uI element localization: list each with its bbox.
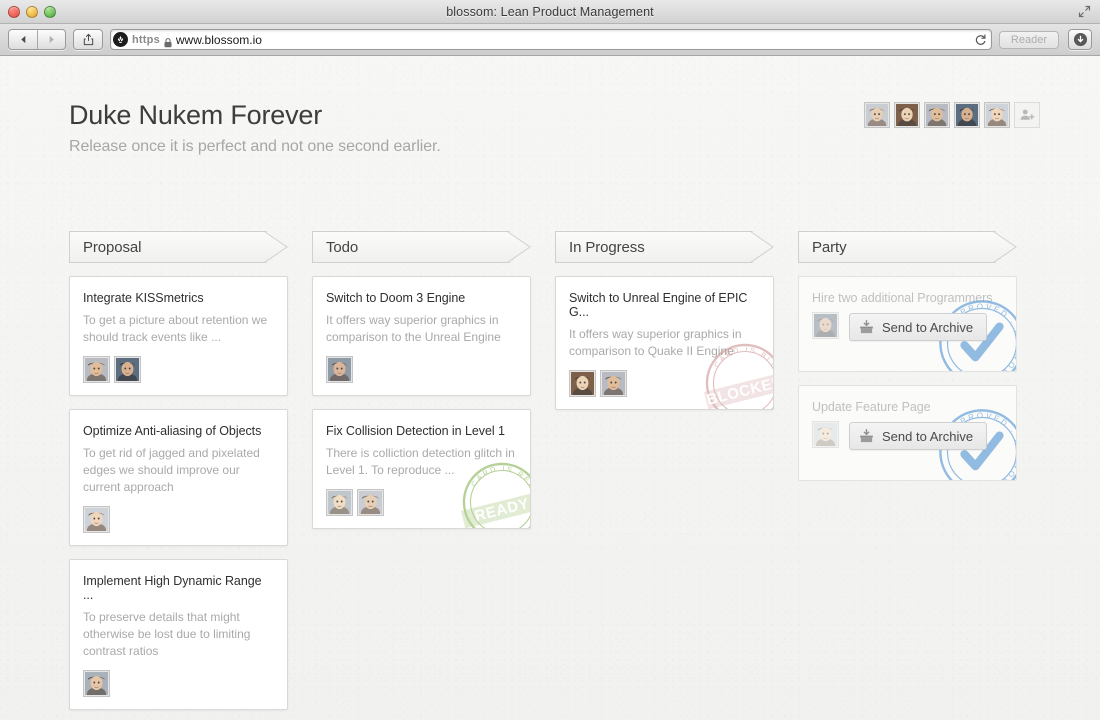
board-card[interactable]: Hire two additional ProgrammersSend to A…: [798, 276, 1017, 372]
zoom-window-button[interactable]: [44, 6, 56, 18]
card-assignee-avatar[interactable]: [326, 356, 353, 383]
card-description: To preserve details that might otherwise…: [83, 609, 274, 660]
chevron-right-icon: [993, 231, 1017, 263]
kanban-board: ProposalIntegrate KISSmetricsTo get a pi…: [69, 231, 1045, 720]
chevron-right-icon: [264, 231, 288, 263]
card-assignee-avatar[interactable]: [357, 489, 384, 516]
url-scheme-label: https: [132, 34, 160, 46]
card-title: Fix Collision Detection in Level 1: [326, 424, 517, 438]
board-card[interactable]: Fix Collision Detection in Level 1There …: [312, 409, 531, 529]
close-window-button[interactable]: [8, 6, 20, 18]
card-title: Update Feature Page: [812, 400, 1003, 414]
address-bar[interactable]: https www.blossom.io: [110, 29, 992, 50]
board-column: ProposalIntegrate KISSmetricsTo get a pi…: [69, 231, 288, 720]
board-card[interactable]: Implement High Dynamic Range ...To prese…: [69, 559, 288, 710]
fullscreen-icon[interactable]: [1078, 5, 1091, 18]
board-column: In ProgressSwitch to Unreal Engine of EP…: [555, 231, 774, 720]
reload-icon[interactable]: [974, 33, 987, 46]
url-text[interactable]: www.blossom.io: [176, 33, 970, 47]
board-card[interactable]: Switch to Doom 3 EngineIt offers way sup…: [312, 276, 531, 396]
minimize-window-button[interactable]: [26, 6, 38, 18]
card-assignee-avatar[interactable]: [83, 356, 110, 383]
column-title: Todo: [326, 231, 358, 263]
card-assignee-avatar[interactable]: [326, 489, 353, 516]
column-header-in-progress[interactable]: In Progress: [555, 231, 774, 263]
card-title: Integrate KISSmetrics: [83, 291, 274, 305]
card-assignee-list: [83, 670, 274, 697]
send-to-archive-button[interactable]: Send to Archive: [849, 422, 987, 450]
downloads-button[interactable]: [1068, 29, 1092, 50]
team-member-avatar[interactable]: [864, 102, 890, 128]
card-title: Hire two additional Programmers: [812, 291, 1003, 305]
column-title: Party: [812, 231, 847, 263]
column-title: Proposal: [83, 231, 141, 263]
card-description: It offers way superior graphics in compa…: [326, 312, 517, 346]
card-description: To get rid of jagged and pixelated edges…: [83, 445, 274, 496]
card-assignee-list: [83, 506, 274, 533]
archive-icon: [859, 429, 874, 444]
share-button[interactable]: [73, 29, 103, 50]
page-subtitle: Release once it is perfect and not one s…: [69, 138, 1040, 156]
board-card[interactable]: Optimize Anti-aliasing of ObjectsTo get …: [69, 409, 288, 546]
nav-button-group: [8, 29, 66, 50]
column-header-todo[interactable]: Todo: [312, 231, 531, 263]
card-assignee-avatar[interactable]: [83, 670, 110, 697]
back-button[interactable]: [9, 30, 37, 49]
card-assignee-avatar[interactable]: [83, 506, 110, 533]
column-header-proposal[interactable]: Proposal: [69, 231, 288, 263]
card-assignee-avatar[interactable]: [812, 421, 839, 448]
window-titlebar: blossom: Lean Product Management: [0, 0, 1100, 24]
card-assignee-avatar[interactable]: [812, 312, 839, 339]
browser-toolbar: https www.blossom.io Reader: [0, 24, 1100, 56]
card-assignee-list: [326, 356, 517, 383]
column-header-party[interactable]: Party: [798, 231, 1017, 263]
board-column: TodoSwitch to Doom 3 EngineIt offers way…: [312, 231, 531, 720]
board-card[interactable]: Switch to Unreal Engine of EPIC G...It o…: [555, 276, 774, 410]
archive-icon: [859, 320, 874, 335]
card-description: To get a picture about retention we shou…: [83, 312, 274, 346]
card-assignee-list: [569, 370, 760, 397]
forward-button[interactable]: [37, 30, 65, 49]
traffic-light-group: [8, 6, 56, 18]
column-title: In Progress: [569, 231, 645, 263]
team-member-list: [864, 102, 1040, 128]
card-description: It offers way superior graphics in compa…: [569, 326, 760, 360]
card-description: There is colliction detection glitch in …: [326, 445, 517, 479]
board-column: PartyHire two additional ProgrammersSend…: [798, 231, 1017, 720]
lock-icon: [164, 35, 172, 45]
board-card[interactable]: Integrate KISSmetricsTo get a picture ab…: [69, 276, 288, 396]
card-assignee-avatar[interactable]: [600, 370, 627, 397]
card-title: Switch to Unreal Engine of EPIC G...: [569, 291, 760, 319]
page-content: Duke Nukem Forever Release once it is pe…: [0, 56, 1100, 720]
add-person-icon[interactable]: [1014, 102, 1040, 128]
chevron-right-icon: [507, 231, 531, 263]
window-title: blossom: Lean Product Management: [0, 5, 1100, 19]
team-member-avatar[interactable]: [954, 102, 980, 128]
team-member-avatar[interactable]: [984, 102, 1010, 128]
card-title: Switch to Doom 3 Engine: [326, 291, 517, 305]
card-title: Optimize Anti-aliasing of Objects: [83, 424, 274, 438]
send-to-archive-label: Send to Archive: [882, 429, 973, 444]
card-title: Implement High Dynamic Range ...: [83, 574, 274, 602]
browser-window: blossom: Lean Product Management: [0, 0, 1100, 720]
reader-button[interactable]: Reader: [999, 31, 1059, 49]
board-card[interactable]: Update Feature PageSend to ArchiveAPPROV…: [798, 385, 1017, 481]
chevron-right-icon: [750, 231, 774, 263]
card-assignee-list: [326, 489, 517, 516]
team-member-avatar[interactable]: [924, 102, 950, 128]
team-member-avatar[interactable]: [894, 102, 920, 128]
card-assignee-avatar[interactable]: [114, 356, 141, 383]
card-assignee-list: [83, 356, 274, 383]
send-to-archive-label: Send to Archive: [882, 320, 973, 335]
send-to-archive-button[interactable]: Send to Archive: [849, 313, 987, 341]
card-assignee-avatar[interactable]: [569, 370, 596, 397]
blossom-favicon: [113, 32, 128, 47]
